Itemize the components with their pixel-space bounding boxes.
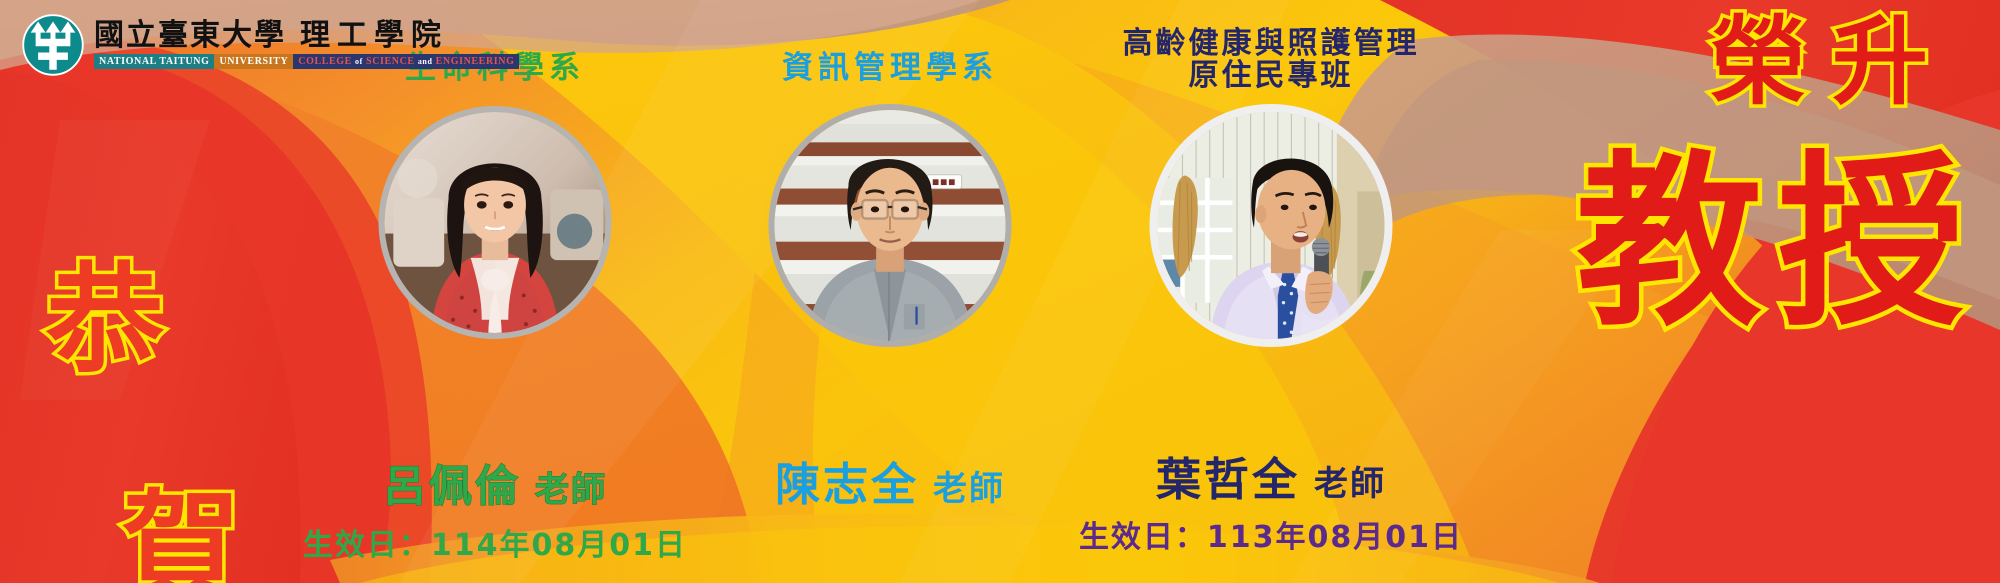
effective-date: 生效日：114年08月01日 (260, 520, 730, 564)
avatar (379, 106, 612, 339)
honoree-title: 老師 (1314, 464, 1386, 504)
department-label: 資訊管理學系 (695, 52, 1085, 85)
portrait-photo-1 (385, 112, 606, 333)
honoree-name-text: 陳志全 (775, 458, 919, 511)
logo-en-of: of (355, 57, 363, 66)
honoree-list: 生命科學系 (300, 0, 1490, 583)
honoree-name: 陳志全老師 (695, 448, 1085, 513)
promotion-banner: 國立臺東大學理工學院 NATIONAL TAITUNG UNIVERSITY C… (0, 0, 2000, 583)
logo-chinese-college: 理工學院 (300, 18, 448, 53)
logo-en-university: UNIVERSITY (214, 54, 293, 69)
effective-date: 生效日：113年08月01日 (1036, 512, 1506, 556)
honoree-name: 葉哲全老師 (1076, 443, 1466, 508)
logo-en-and: and (418, 57, 433, 66)
logo-chinese-university: 國立臺東大學 (94, 18, 286, 53)
logo-en-college-word: COLLEGE (298, 56, 352, 67)
logo-en-national-taitung: NATIONAL TAITUNG (94, 54, 214, 69)
portrait-photo-3 (1158, 112, 1385, 339)
honoree-name: 呂佩倫老師 (300, 452, 690, 514)
department-label: 高齡健康與照護管理 原住民專班 (1076, 28, 1466, 93)
headline-right-professor: 教授 (1576, 150, 1980, 336)
avatar (769, 104, 1012, 347)
honoree-title: 老師 (933, 469, 1005, 509)
portrait-photo-2 (775, 110, 1006, 341)
logo-chinese-name: 國立臺東大學理工學院 (94, 21, 519, 51)
headline-left-congratulations: 恭 賀 (46, 140, 246, 583)
headline-left-char-1: 恭 (46, 260, 246, 380)
logo-en-college: COLLEGE of SCIENCE and ENGINEERING (293, 54, 519, 69)
honoree-card: 高齡健康與照護管理 原住民專班 (1076, 0, 1466, 583)
headline-right-promotion: 榮升 (1710, 14, 1954, 110)
avatar (1150, 104, 1393, 347)
logo-english-name: NATIONAL TAITUNG UNIVERSITY COLLEGE of S… (94, 54, 519, 69)
ntu-taitung-emblem-icon (22, 14, 84, 76)
honoree-title: 老師 (535, 470, 607, 510)
headline-left-char-2: 賀 (122, 487, 246, 583)
honoree-name-text: 葉哲全 (1156, 453, 1300, 506)
honoree-name-text: 呂佩倫 (383, 462, 521, 512)
honoree-card: 生命科學系 (300, 0, 690, 583)
university-logo: 國立臺東大學理工學院 NATIONAL TAITUNG UNIVERSITY C… (22, 14, 519, 76)
logo-en-engineering: ENGINEERING (436, 56, 515, 67)
logo-en-science: SCIENCE (366, 56, 415, 67)
honoree-card: 資訊管理學系 (695, 0, 1085, 583)
logo-text-block: 國立臺東大學理工學院 NATIONAL TAITUNG UNIVERSITY C… (94, 21, 519, 69)
